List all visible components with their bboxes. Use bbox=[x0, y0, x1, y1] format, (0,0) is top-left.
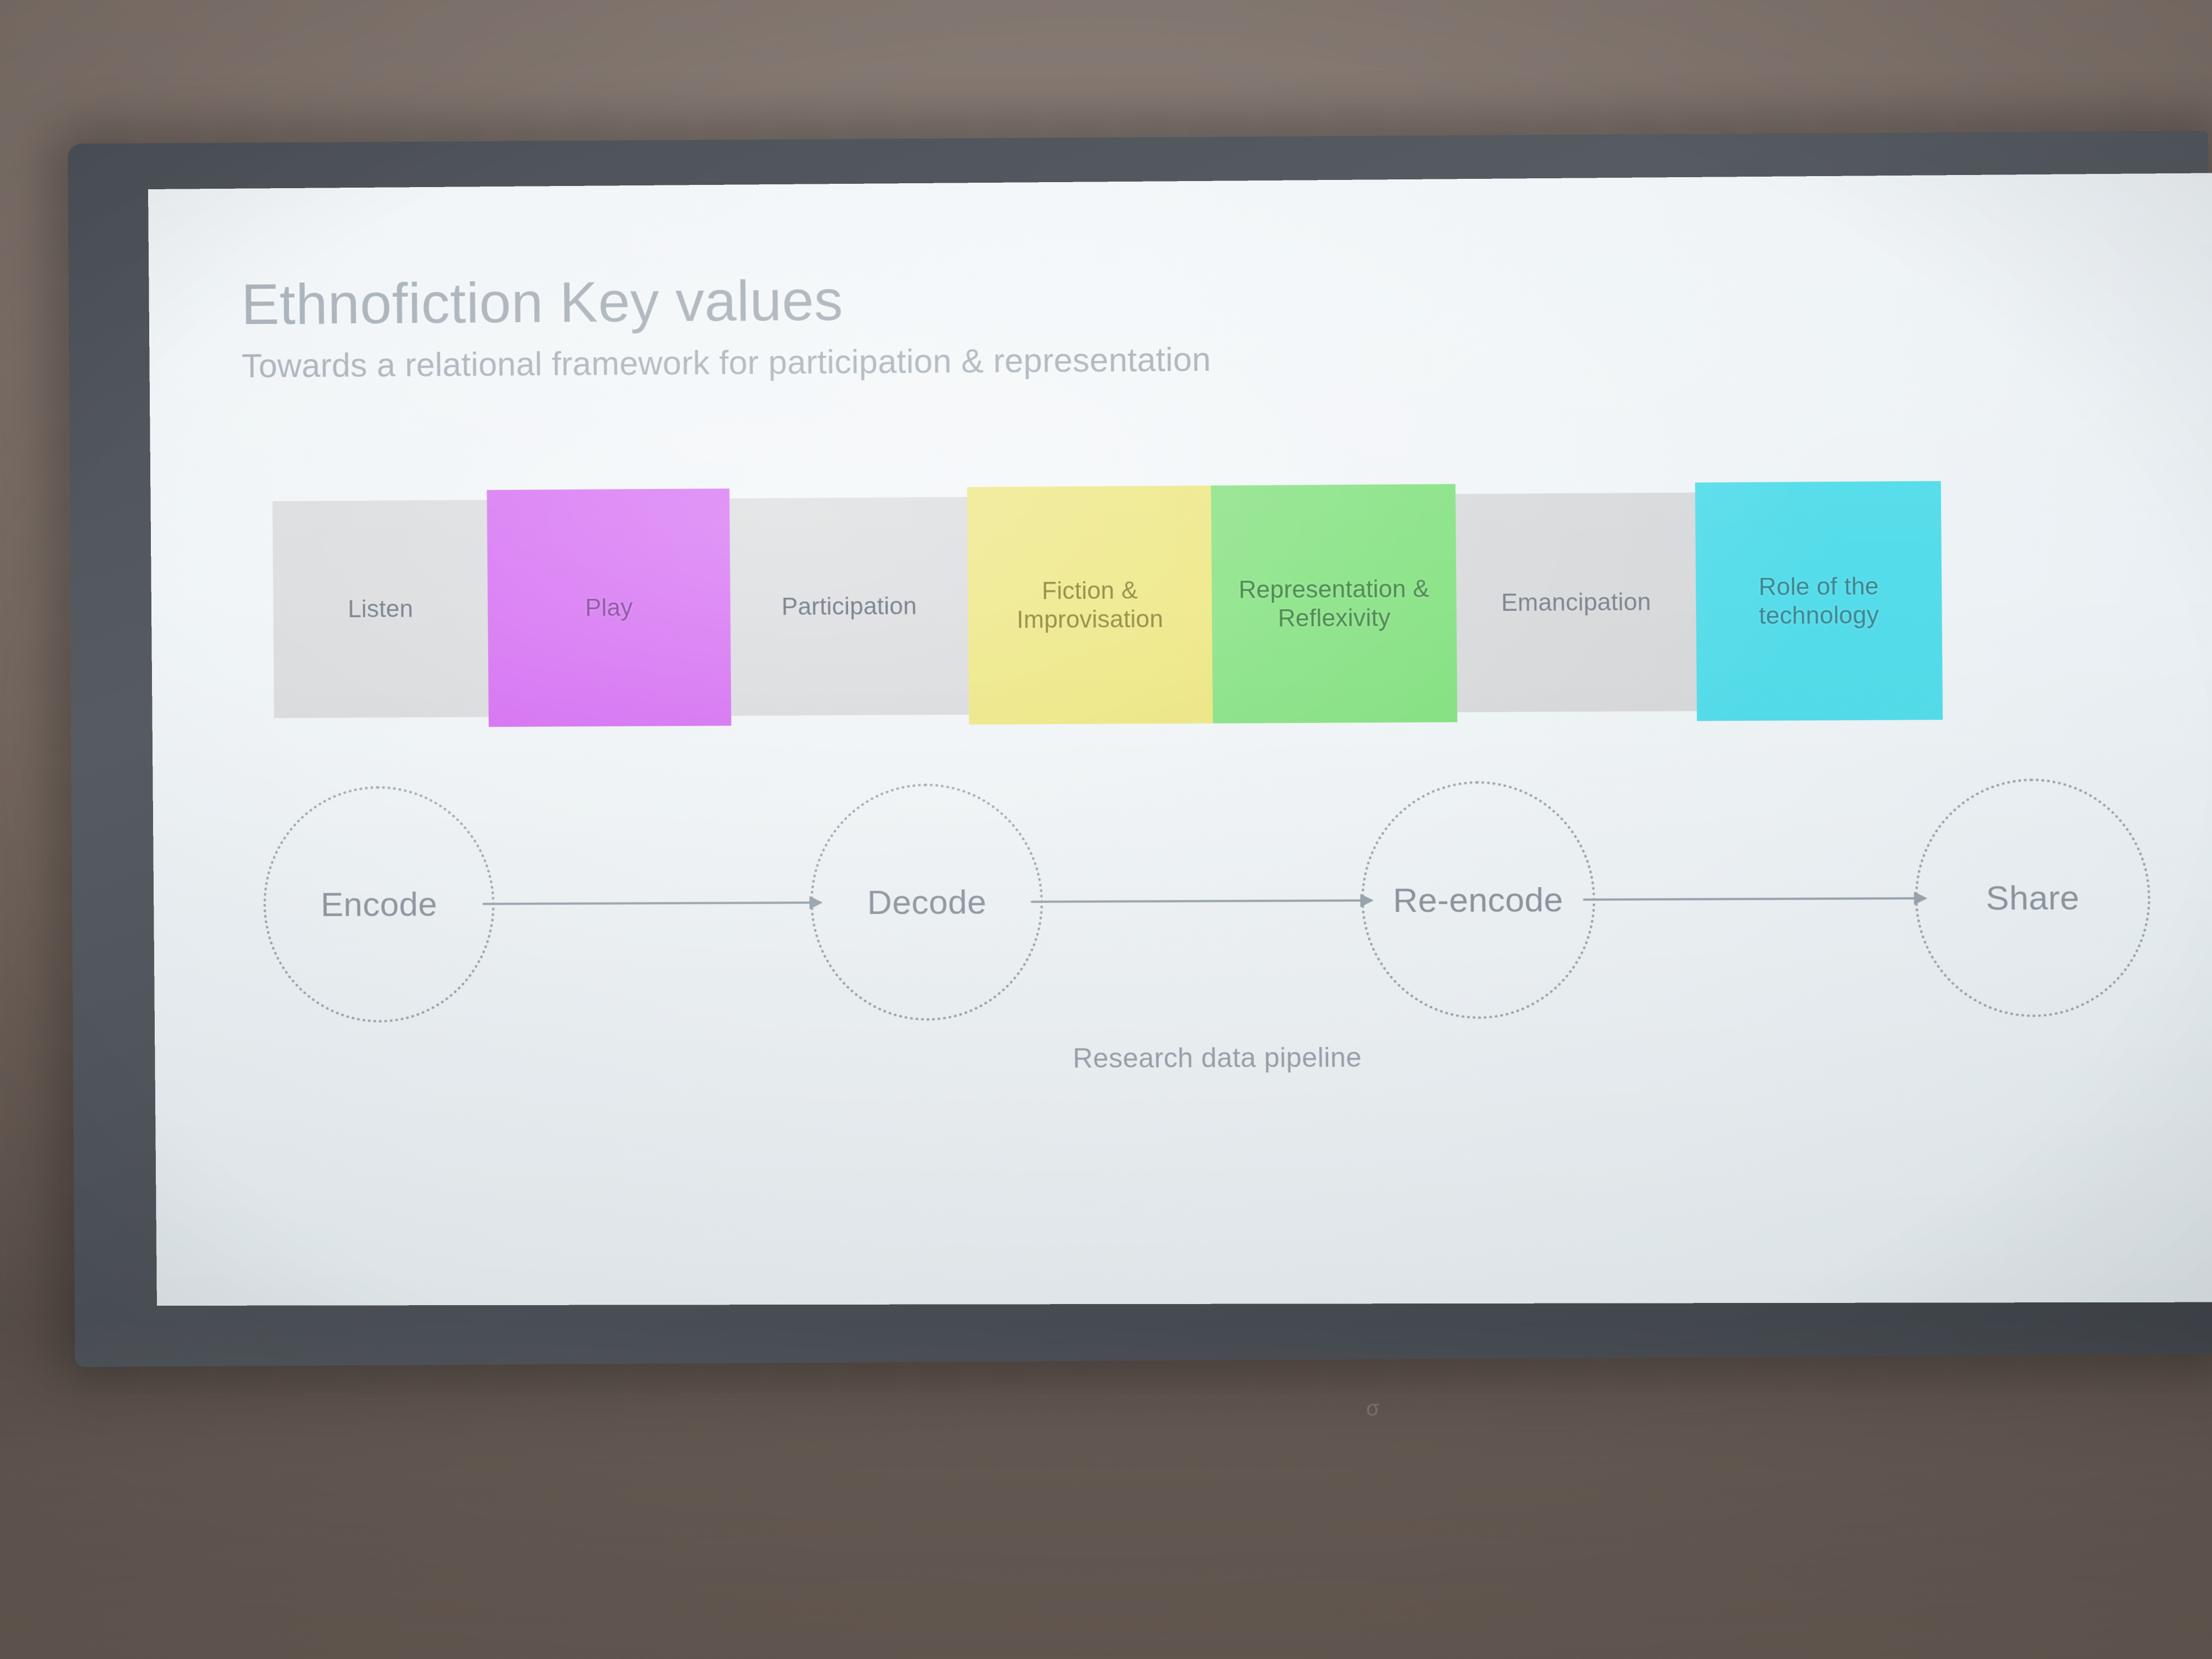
key-value-label: Fiction &Improvisation bbox=[1017, 576, 1164, 634]
pipeline-caption: Research data pipeline bbox=[155, 1039, 2212, 1077]
arrow-head-icon bbox=[1360, 894, 1374, 907]
key-value-label: Listen bbox=[348, 595, 413, 624]
pipeline-node: Re-encode bbox=[1361, 781, 1596, 1019]
page-title: Ethnofiction Key values bbox=[241, 269, 1210, 334]
pipeline-node-label: Encode bbox=[320, 884, 437, 924]
pipeline-node: Decode bbox=[810, 783, 1044, 1022]
key-value-cell: Listen bbox=[273, 500, 489, 718]
pipeline-node: Encode bbox=[263, 786, 495, 1023]
key-value-cell: Participation bbox=[730, 497, 969, 716]
slide-subtitle: Towards a relational framework for parti… bbox=[241, 340, 1211, 385]
key-value-cell: Role of thetechnology bbox=[1695, 481, 1943, 721]
key-value-label: Participation bbox=[781, 592, 917, 621]
key-value-label: Role of thetechnology bbox=[1758, 572, 1879, 630]
arrow-head-icon bbox=[1914, 891, 1928, 905]
slide-heading-block: Ethnofiction Key values Towards a relati… bbox=[241, 269, 1211, 385]
pipeline-arrow bbox=[1031, 893, 1374, 909]
key-value-cell: Emancipation bbox=[1455, 493, 1697, 713]
arrow-shaft bbox=[1583, 897, 1915, 900]
pipeline-node-label: Decode bbox=[867, 882, 986, 922]
key-value-cell: Representation &Reflexivity bbox=[1211, 484, 1457, 723]
pipeline-node: Share bbox=[1914, 778, 2151, 1017]
projector-artifact-mark: σ bbox=[1366, 1396, 1381, 1421]
key-value-cell: Play bbox=[487, 488, 731, 727]
key-values-band: ListenPlayParticipationFiction &Improvis… bbox=[273, 490, 2134, 718]
key-value-label: Representation &Reflexivity bbox=[1239, 574, 1430, 633]
arrow-shaft bbox=[482, 901, 811, 905]
key-value-label: Emancipation bbox=[1501, 588, 1651, 617]
key-value-label: Play bbox=[585, 594, 633, 623]
research-data-pipeline: EncodeDecodeRe-encodeShare bbox=[263, 767, 2152, 1034]
presentation-slide: Ethnofiction Key values Towards a relati… bbox=[148, 172, 2212, 1306]
pipeline-arrow bbox=[482, 895, 823, 911]
arrow-shaft bbox=[1031, 899, 1361, 902]
pipeline-arrow bbox=[1583, 891, 1927, 907]
arrow-head-icon bbox=[810, 896, 823, 909]
key-value-cell: Fiction &Improvisation bbox=[967, 486, 1213, 725]
pipeline-node-label: Re-encode bbox=[1393, 880, 1564, 920]
pipeline-node-label: Share bbox=[1986, 878, 2080, 917]
